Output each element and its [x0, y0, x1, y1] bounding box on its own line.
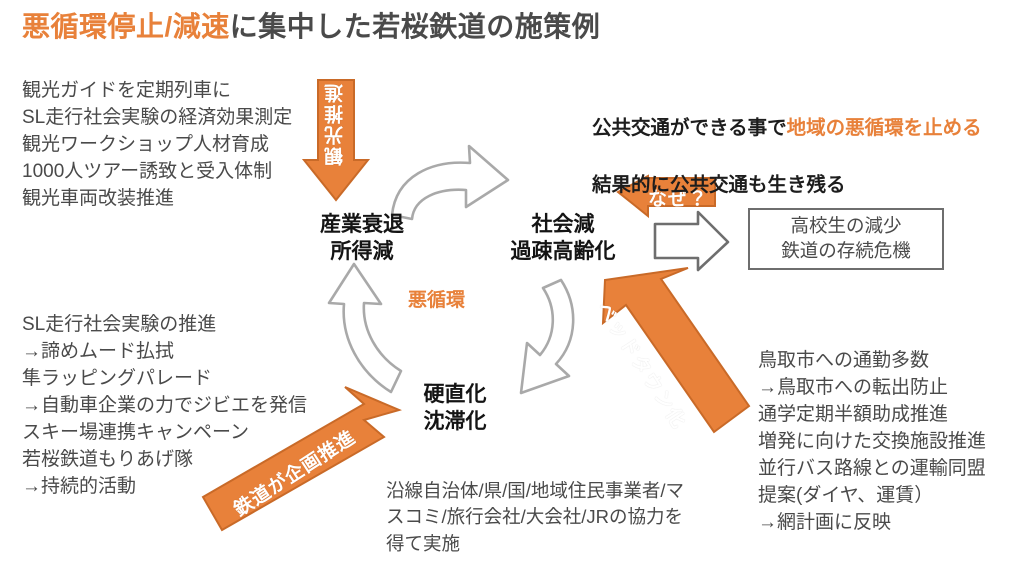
info-box: 高校生の減少 鉄道の存続危機 [748, 208, 944, 270]
headline-line1-plain: 公共交通ができる事で [592, 117, 787, 139]
result-arrow-shape [655, 212, 728, 270]
page-title: 悪循環停止/減速に集中した若桜鉄道の施策例 [22, 10, 600, 44]
headline: 公共交通ができる事で地域の悪循環を止める 結果的に公共交通も生き残る [592, 86, 982, 199]
headline-line1-accent: 地域の悪循環を止める [787, 117, 982, 139]
sl-measures-text: SL走行社会実験の推進 →諦めムード払拭 隼ラッピングパレード →自動車企業の力… [22, 312, 382, 501]
cycle-node-industry: 産業衰退 所得減 [296, 212, 428, 266]
partners-text: 沿線自治体/県/国/地域住民事業者/マ スコミ/旅行会社/大会社/JRの協力を … [386, 478, 716, 557]
cycle-center-label: 悪循環 [408, 285, 465, 312]
slide-canvas: 悪循環停止/減速に集中した若桜鉄道の施策例 観光推進 なぜ？ ベッドタウン化 鉄… [0, 0, 1024, 573]
tottori-measures-text: 鳥取市への通勤多数 →鳥取市への転出防止 通学定期半額助成推進 増発に向けた交換… [758, 348, 1024, 537]
bedtown-banner-label: ベッドタウン化 [591, 296, 694, 434]
cycle-arrow-society-to-rigid [521, 280, 573, 393]
headline-line2: 結果的に公共交通も生き残る [592, 174, 846, 196]
cycle-arrow-industry-to-society [392, 146, 508, 219]
tourism-measures-text: 観光ガイドを定期列車に SL走行社会実験の経済効果測定 観光ワークショップ人材育… [22, 78, 342, 213]
page-title-accent: 悪循環停止/減速 [22, 11, 230, 42]
page-title-plain: に集中した若桜鉄道の施策例 [230, 11, 601, 42]
cycle-node-rigid: 硬直化 沈滞化 [396, 382, 514, 436]
info-box-text: 高校生の減少 鉄道の存続危機 [781, 214, 911, 264]
cycle-node-society: 社会減 過疎高齢化 [490, 212, 636, 266]
